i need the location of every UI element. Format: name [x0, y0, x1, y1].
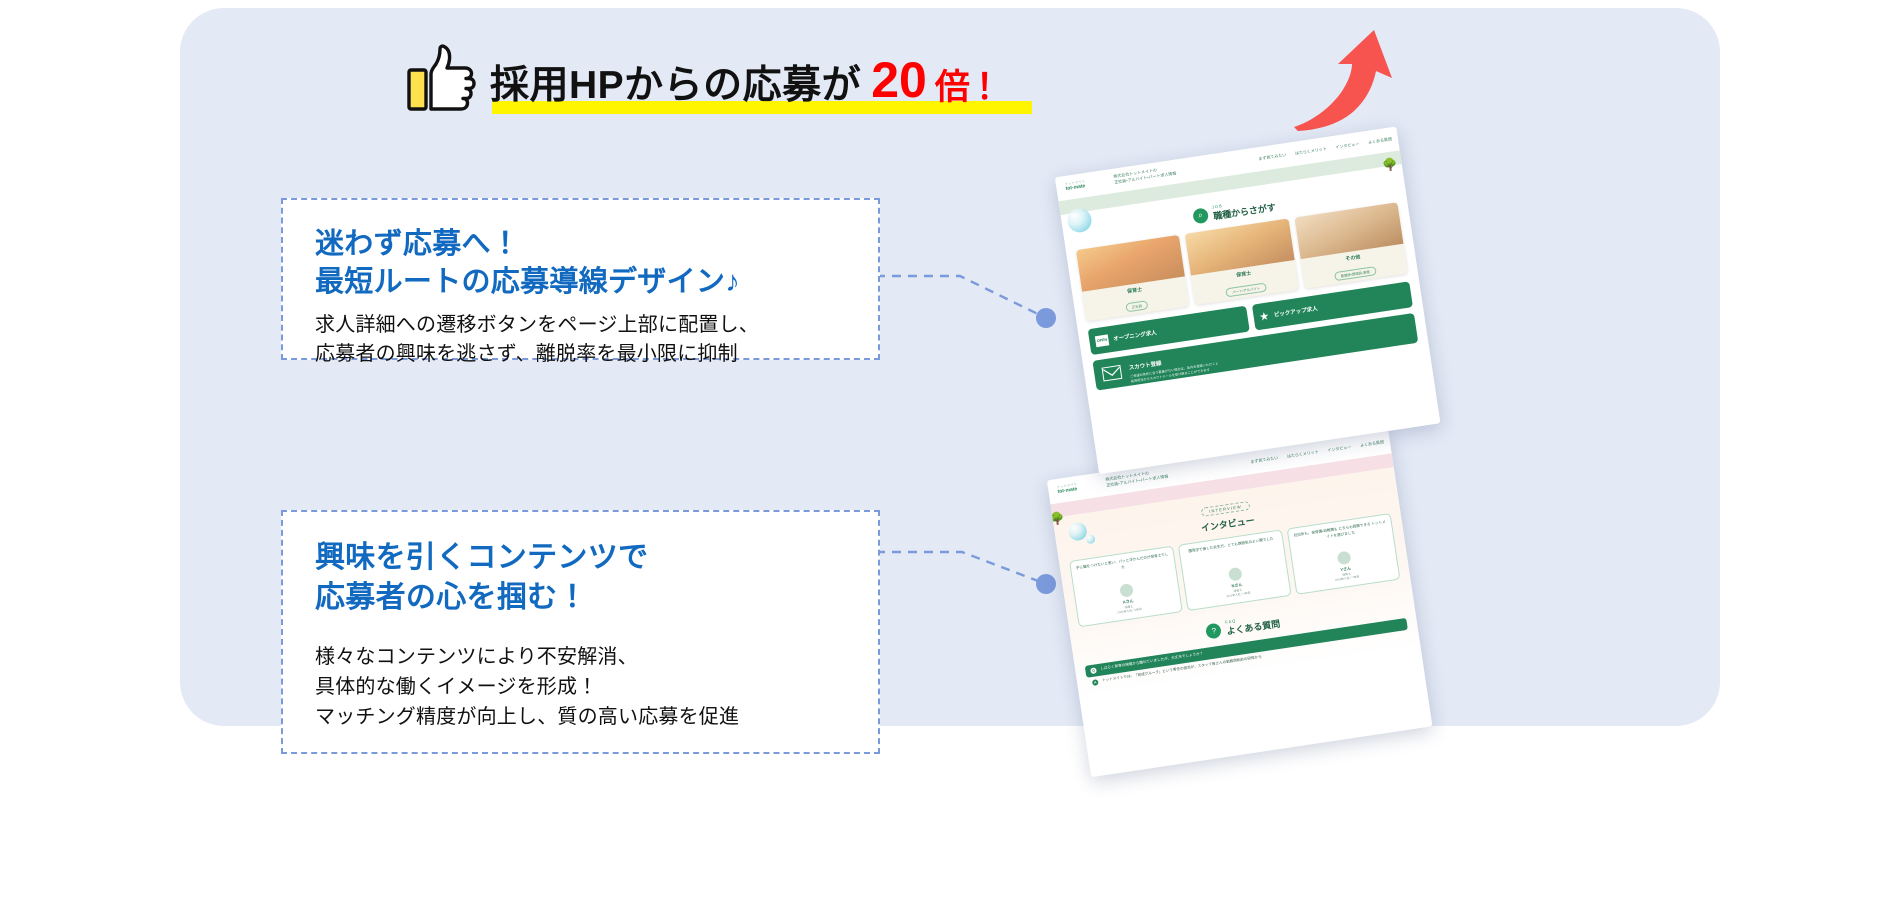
mockup-b-nav-item-1[interactable]: はたらくメリット — [1287, 449, 1319, 460]
interview-card[interactable]: 手に職をつけたいと思い、パッと浮かんだのが保育士でした Aさん 保育士 2024… — [1069, 546, 1183, 628]
pickup-jobs-label: ピックアップ求人 — [1273, 304, 1318, 318]
headline: 採用HPからの応募が 20 倍 ！ — [490, 55, 1011, 105]
info-card-2: 興味を引くコンテンツで 応募者の心を掴む！ 様々なコンテンツにより不安解消、 具… — [281, 510, 880, 754]
mockup-a-corp: 株式会社トットメイトの 正社員・アルバイト・パート求人情報 — [1113, 165, 1177, 186]
info-card-1: 迷わず応募へ！ 最短ルートの応募導線デザイン♪ 求人詳細への遷移ボタンをページ上… — [281, 198, 880, 360]
mockup-b-nav-item-0[interactable]: まず見てみたい — [1250, 455, 1279, 465]
faq-a-badge: A — [1092, 680, 1099, 687]
interview-quote: 園見学で接した先生方、とても雰囲気のよい園でした — [1184, 536, 1281, 572]
avatar — [1337, 551, 1352, 566]
mockup-a-nav-item-0[interactable]: まず見てみたい — [1258, 152, 1287, 162]
card-1-body-line1: 求人詳細への遷移ボタンをページ上部に配置し、 — [315, 314, 759, 336]
job-card-tag: 看護師・調理員・事務 — [1334, 266, 1376, 281]
interview-card[interactable]: 託児所も、保育園・幼稚園も どちらも経験できる トットメイトを選びました Yさん… — [1287, 513, 1401, 595]
faq-q-badge: Q — [1090, 668, 1097, 675]
curved-up-arrow-icon — [1288, 24, 1398, 134]
thumbs-up-icon — [407, 44, 479, 114]
tree-icon: 🌳 — [1382, 157, 1399, 173]
job-card-tag: 正社員 — [1125, 300, 1148, 312]
mockup-a-nav-item-3[interactable]: よくある質問 — [1368, 136, 1393, 145]
mockup-b-logo[interactable]: トットメイト tot-mate — [1057, 482, 1079, 495]
person-search-icon: ⌕ — [1192, 207, 1209, 224]
card-1-heading: 迷わず応募へ！ 最短ルートの応募導線デザイン♪ — [315, 226, 848, 301]
card-1-heading-line2: 最短ルートの応募導線デザイン♪ — [315, 266, 740, 298]
interview-quote: 託児所も、保育園・幼稚園も どちらも経験できる トットメイトを選びました — [1292, 520, 1389, 556]
card-2-body: 様々なコンテンツにより不安解消、 具体的な働くイメージを形成！ マッチング精度が… — [315, 642, 848, 732]
question-icon: ? — [1205, 622, 1222, 639]
job-card[interactable]: 保育士 正社員 — [1076, 235, 1190, 322]
interview-quote: 手に職をつけたいと思い、パッと浮かんだのが保育士でした — [1075, 552, 1172, 588]
card-2-heading: 興味を引くコンテンツで 応募者の心を掴む！ — [315, 538, 848, 618]
card-2-body-line2: 具体的な働くイメージを形成！ — [315, 676, 597, 698]
headline-unit: 倍 — [935, 70, 970, 105]
headline-text: 採用HPからの応募が — [490, 66, 861, 105]
mockup-a-logo-text: tot-mate — [1065, 183, 1085, 192]
poster-stage: 採用HPからの応募が 20 倍 ！ 迷わず応募へ！ 最短ルートの応募導線デザイン… — [0, 0, 1900, 900]
card-2-body-line3: マッチング精度が向上し、質の高い応募を促進 — [315, 706, 739, 728]
job-card[interactable]: 保育士 パート・アルバイト — [1185, 218, 1299, 305]
opening-jobs-label: オープニング求人 — [1113, 328, 1157, 342]
mockup-a-logo[interactable]: トットメイト tot-mate — [1065, 179, 1087, 192]
website-mockup-interview[interactable]: トットメイト tot-mate 株式会社トットメイトの 正社員・アルバイト・パー… — [1047, 430, 1433, 778]
card-1-heading-line1: 迷わず応募へ！ — [315, 228, 520, 260]
mockup-b-nav-item-2[interactable]: インタビュー — [1327, 444, 1352, 453]
interview-card[interactable]: 園見学で接した先生方、とても雰囲気のよい園でした Nさん 保育士 2021年入社… — [1178, 529, 1292, 611]
card-2-body-line1: 様々なコンテンツにより不安解消、 — [315, 646, 638, 668]
card-1-body-line2: 応募者の興味を逃さず、離脱率を最小限に抑制 — [315, 343, 738, 365]
mockup-b-nav-item-3[interactable]: よくある質問 — [1360, 439, 1385, 448]
open-flag-icon: OPEN — [1095, 334, 1109, 347]
job-card[interactable]: その他 看護師・調理員・事務 — [1294, 202, 1408, 289]
mockup-a-nav-item-1[interactable]: はたらくメリット — [1295, 146, 1327, 157]
card-1-body: 求人詳細への遷移ボタンをページ上部に配置し、 応募者の興味を逃さず、離脱率を最小… — [315, 311, 848, 368]
star-icon: ★ — [1258, 309, 1270, 323]
card-2-heading-line2: 応募者の心を掴む！ — [315, 581, 588, 614]
headline-number: 20 — [871, 55, 927, 105]
mockup-a-nav-item-2[interactable]: インタビュー — [1335, 141, 1360, 150]
job-card-tag: パート・アルバイト — [1226, 283, 1267, 298]
website-mockup-jobs[interactable]: トットメイト tot-mate 株式会社トットメイトの 正社員・アルバイト・パー… — [1055, 127, 1441, 475]
mockup-b-logo-text: tot-mate — [1057, 486, 1077, 495]
headline-exclaim: ！ — [976, 70, 1011, 105]
card-2-heading-line1: 興味を引くコンテンツで — [315, 541, 648, 574]
avatar — [1228, 567, 1243, 582]
envelope-icon — [1102, 365, 1123, 382]
avatar — [1119, 583, 1134, 598]
